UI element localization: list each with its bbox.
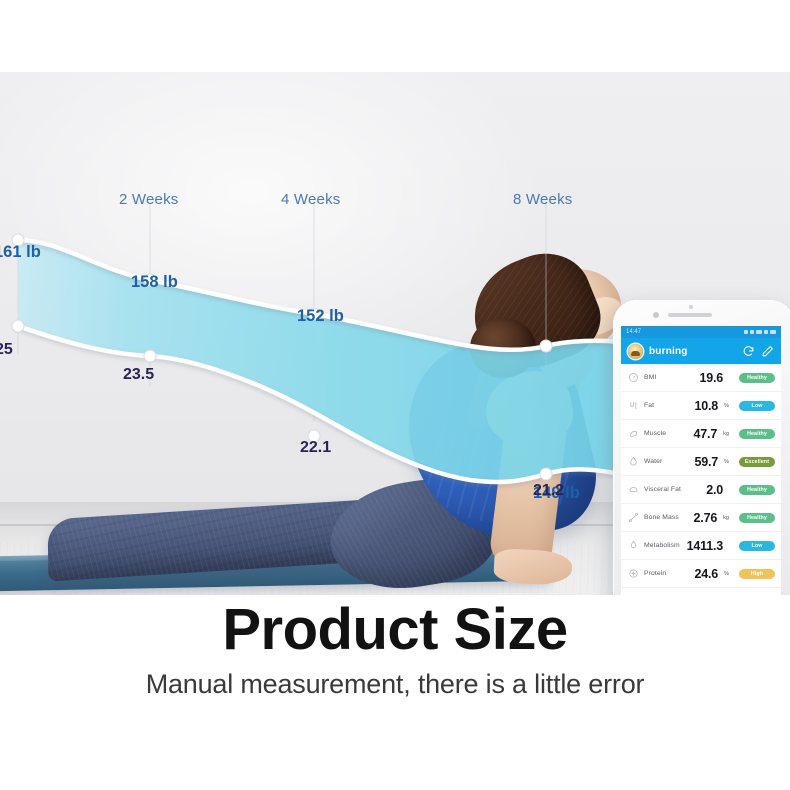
page-subtitle: Manual measurement, there is a little er… <box>0 669 790 700</box>
protein-icon <box>628 568 639 579</box>
metric-value: -10.3 <box>691 595 719 596</box>
metric-row-metabolism[interactable]: Metabolism 1411.3 Low <box>621 532 781 560</box>
bone-icon <box>628 512 639 523</box>
metric-label: Visceral Fat <box>644 486 701 493</box>
metabolism-icon <box>628 540 639 551</box>
earpiece-speaker <box>668 313 712 317</box>
metric-row-fat[interactable]: Fat 10.8 % Low <box>621 392 781 420</box>
wifi-icon <box>764 330 768 334</box>
bmi-icon <box>628 372 639 383</box>
metric-row-obesity[interactable]: Obesity -10.3 % Healthy <box>621 588 781 595</box>
status-badge: Low <box>739 541 775 551</box>
alarm-icon <box>750 330 754 334</box>
product-marketing-image: 2 Weeks 4 Weeks 8 Weeks 161 lb 158 lb 15… <box>0 0 790 790</box>
lifestyle-photo: 2 Weeks 4 Weeks 8 Weeks 161 lb 158 lb 15… <box>0 72 790 595</box>
avatar[interactable] <box>628 344 643 359</box>
metric-value: 47.7 <box>694 427 718 441</box>
metric-row-protein[interactable]: Protein 24.6 % High <box>621 560 781 588</box>
fat-icon <box>628 400 639 411</box>
metric-label: Protein <box>644 570 689 577</box>
metric-label: Muscle <box>644 430 689 437</box>
metric-value: 24.6 <box>694 567 718 581</box>
smartphone-mockup: 14:47 burning <box>613 300 790 595</box>
muscle-icon <box>628 428 639 439</box>
hair-bun <box>470 318 536 378</box>
metric-row-bmi[interactable]: BMI 19.6 Healthy <box>621 364 781 392</box>
front-camera-icon <box>653 312 659 318</box>
metric-unit: kg <box>723 431 729 437</box>
hand <box>493 548 573 586</box>
status-badge: Healthy <box>739 429 775 439</box>
status-badge: Excellent <box>739 457 775 467</box>
metric-row-water[interactable]: Water 59.7 % Excellent <box>621 448 781 476</box>
signal-icon <box>756 330 762 334</box>
status-badge: Healthy <box>739 513 775 523</box>
metric-label: Water <box>644 458 689 465</box>
edit-pencil-icon[interactable] <box>761 345 774 358</box>
status-badge: High <box>739 569 775 579</box>
phone-screen: 14:47 burning <box>621 326 781 595</box>
metric-label: Bone Mass <box>644 514 689 521</box>
battery-icon <box>770 330 776 334</box>
metric-row-bone-mass[interactable]: Bone Mass 2.76 kg Healthy <box>621 504 781 532</box>
metric-label: BMI <box>644 374 694 381</box>
metric-row-muscle[interactable]: Muscle 47.7 kg Healthy <box>621 420 781 448</box>
metrics-list: BMI 19.6 Healthy Fat 10.8 % Low <box>621 364 781 595</box>
metric-label: Metabolism <box>644 542 682 549</box>
username-label: burning <box>649 346 736 357</box>
status-bar: 14:47 <box>621 326 781 338</box>
metric-unit: % <box>724 571 729 577</box>
metric-label: Fat <box>644 402 689 409</box>
visceral-fat-icon <box>628 484 639 495</box>
status-badge: Low <box>739 401 775 411</box>
metric-value: 1411.3 <box>687 539 723 553</box>
metric-value: 2.76 <box>694 511 718 525</box>
metric-value: 19.6 <box>699 371 723 385</box>
metric-value: 2.0 <box>706 483 723 497</box>
metric-unit: kg <box>723 515 729 521</box>
caption-block: Product Size Manual measurement, there i… <box>0 600 790 700</box>
proximity-sensor-icon <box>689 305 693 309</box>
water-drop-icon <box>628 456 639 467</box>
status-badge: Healthy <box>739 485 775 495</box>
metric-row-visceral-fat[interactable]: Visceral Fat 2.0 Healthy <box>621 476 781 504</box>
status-bar-time: 14:47 <box>626 329 641 335</box>
refresh-icon[interactable] <box>742 345 755 358</box>
metric-value: 10.8 <box>694 399 718 413</box>
page-title: Product Size <box>0 600 790 661</box>
status-badge: Healthy <box>739 373 775 383</box>
metric-value: 59.7 <box>694 455 718 469</box>
metric-unit: % <box>724 459 729 465</box>
app-header-bar: burning <box>621 338 781 364</box>
status-bar-icons <box>744 330 776 334</box>
bluetooth-icon <box>744 330 748 334</box>
metric-unit: % <box>724 403 729 409</box>
